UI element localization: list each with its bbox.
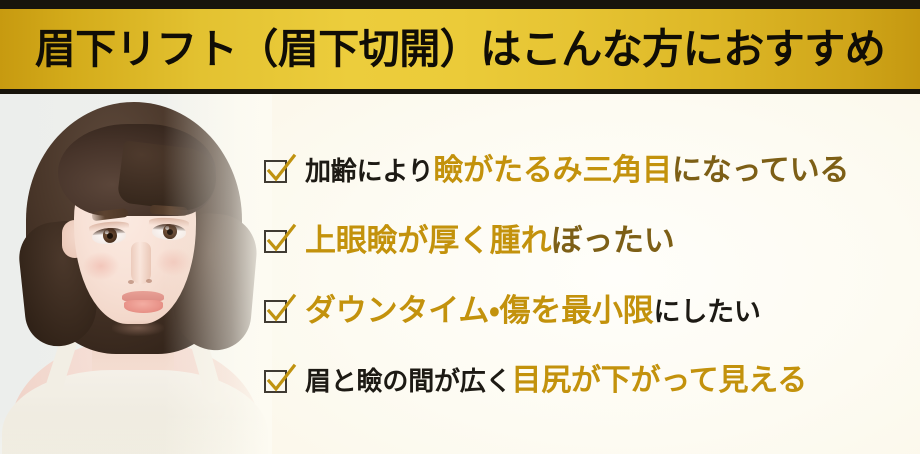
list-item-text: ダウンタイム・傷を最小限にしたい <box>305 296 761 327</box>
segment-dark: 眉と瞼の間が広く <box>305 367 511 397</box>
checkbox-checked-icon <box>264 300 287 323</box>
portrait-chin-shadow <box>112 320 164 336</box>
segment-gold: ダウンタイム・傷を最小限 <box>305 293 654 329</box>
list-item-text: 加齢により瞼がたるみ三角目になっている <box>305 156 849 186</box>
list-item: 上眼瞼が厚く腫れぼったい <box>264 218 675 264</box>
portrait-lower-lip <box>124 300 163 313</box>
banner-header: 眉下リフト（眉下切開）はこんな方におすすめ <box>0 0 920 94</box>
segment-gold: 目尻が下がって見える <box>511 363 807 398</box>
list-item: 眉と瞼の間が広く目尻が下がって見える <box>264 358 807 404</box>
benefits-checklist: 加齢により瞼がたるみ三角目になっている 上眼瞼が厚く腫れぼったい <box>264 94 920 454</box>
segment-brown: ぼったい <box>551 223 674 259</box>
checkbox-checked-icon <box>264 230 287 253</box>
list-item-text: 上眼瞼が厚く腫れぼったい <box>305 226 675 257</box>
list-item: 加齢により瞼がたるみ三角目になっている <box>264 148 849 194</box>
banner-body: 加齢により瞼がたるみ三角目になっている 上眼瞼が厚く腫れぼったい <box>0 94 920 454</box>
page-title: 眉下リフト（眉下切開）はこんな方におすすめ <box>35 29 886 70</box>
promo-banner: 眉下リフト（眉下切開）はこんな方におすすめ <box>0 0 920 454</box>
segment-brown: になっている <box>672 153 849 188</box>
portrait-nostril-left <box>128 280 134 284</box>
list-item-text: 眉と瞼の間が広く目尻が下がって見える <box>305 366 807 396</box>
checkbox-checked-icon <box>264 370 287 393</box>
list-item: ダウンタイム・傷を最小限にしたい <box>264 288 761 334</box>
segment-dark: 加齢により <box>305 157 433 187</box>
portrait-nostril-right <box>146 279 152 283</box>
checkbox-checked-icon <box>264 160 287 183</box>
segment-gold: 上眼瞼が厚く腫れ <box>305 223 551 259</box>
portrait-cheek-right <box>156 248 192 276</box>
segment-dark: にしたい <box>654 297 761 328</box>
woman-portrait-photo <box>0 94 272 454</box>
portrait-nose <box>131 242 151 284</box>
segment-gold: 瞼がたるみ三角目 <box>433 153 671 188</box>
portrait-cheek-left <box>83 252 119 280</box>
